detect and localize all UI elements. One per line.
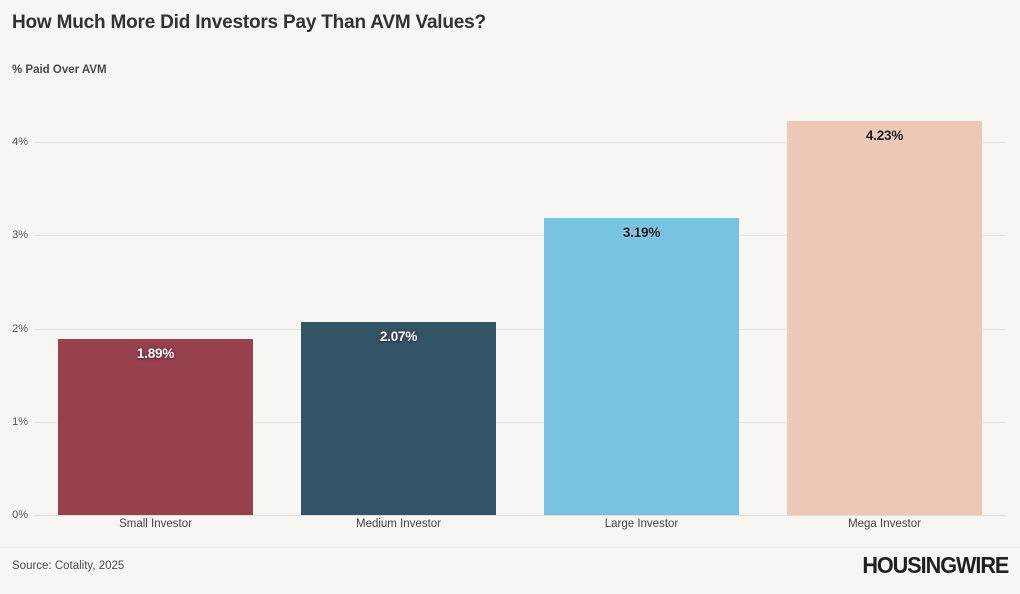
page-title: How Much More Did Investors Pay Than AVM… [12,12,486,34]
x-tick-label: Large Investor [520,518,763,530]
chart-subtitle: % Paid Over AVM [12,64,107,76]
y-tick-label: 2% [12,323,28,335]
bar-value-label: 4.23% [787,128,982,143]
bar-rect[interactable]: 4.23% [787,121,982,515]
bar-rect[interactable]: 3.19% [544,218,739,515]
source-note: Source: Cotality, 2025 [12,560,124,572]
bar-value-label: 3.19% [544,225,739,240]
bar-series: 1.89%2.07%3.19%4.23% [34,100,1006,515]
bar-small-investor[interactable]: 1.89% [58,339,253,515]
chart-page: How Much More Did Investors Pay Than AVM… [0,0,1020,594]
y-tick-label: 3% [12,229,28,241]
y-tick-label: 1% [12,416,28,428]
y-axis-labels: 0%1%2%3%4% [0,100,34,515]
housingwire-logo: HOUSINGWIRE [862,552,1008,579]
gridline-0% [34,515,1006,516]
bar-medium-investor[interactable]: 2.07% [301,322,496,515]
bar-value-label: 2.07% [301,329,496,344]
x-tick-label: Medium Investor [277,518,520,530]
x-tick-label: Small Investor [34,518,277,530]
bar-rect[interactable]: 2.07% [301,322,496,515]
footer-divider [0,547,1020,548]
bar-rect[interactable]: 1.89% [58,339,253,515]
bar-large-investor[interactable]: 3.19% [544,218,739,515]
y-tick-label: 0% [12,509,28,521]
x-tick-label: Mega Investor [763,518,1006,530]
y-tick-label: 4% [12,136,28,148]
x-axis-labels: Small InvestorMedium InvestorLarge Inves… [34,518,1006,540]
bar-value-label: 1.89% [58,346,253,361]
bar-mega-investor[interactable]: 4.23% [787,121,982,515]
